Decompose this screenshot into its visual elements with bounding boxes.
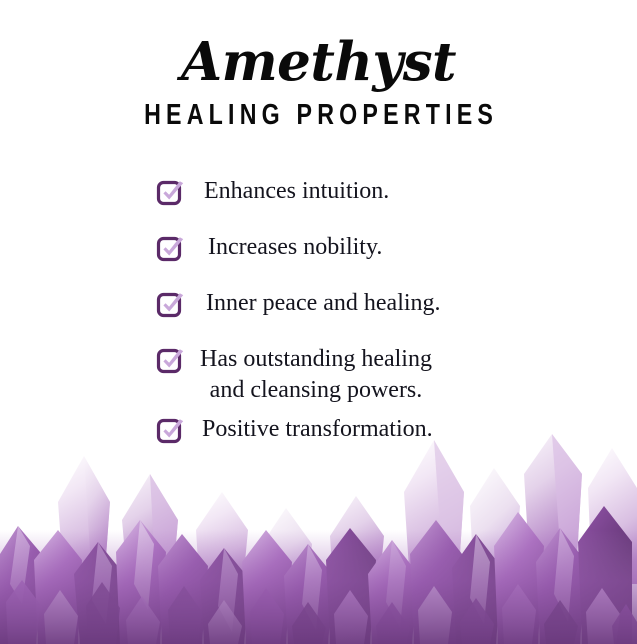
poster-header: Amethyst HEALING PROPERTIES bbox=[0, 0, 637, 131]
page-title: Amethyst bbox=[0, 0, 637, 92]
list-item-label: Enhances intuition. bbox=[204, 176, 389, 207]
list-item: Increases nobility. bbox=[156, 232, 382, 264]
checkbox-checked-icon[interactable] bbox=[156, 416, 186, 446]
list-item: Positive transformation. bbox=[156, 414, 433, 446]
checkbox-checked-icon[interactable] bbox=[156, 346, 186, 376]
amethyst-healing-properties-poster: Amethyst HEALING PROPERTIES Enhances int… bbox=[0, 0, 637, 644]
checkbox-checked-icon[interactable] bbox=[156, 290, 186, 320]
list-item-label: Increases nobility. bbox=[208, 232, 382, 263]
list-item: Has outstanding healing and cleansing po… bbox=[156, 344, 432, 406]
crystal-depth-wash bbox=[0, 530, 637, 644]
page-subtitle: HEALING PROPERTIES bbox=[64, 92, 574, 131]
list-item: Enhances intuition. bbox=[156, 176, 389, 208]
list-item: Inner peace and healing. bbox=[156, 288, 441, 320]
list-item-label: Positive transformation. bbox=[202, 414, 433, 445]
amethyst-crystal-cluster-image bbox=[0, 434, 637, 644]
checkbox-checked-icon[interactable] bbox=[156, 234, 186, 264]
list-item-label: Inner peace and healing. bbox=[206, 288, 441, 319]
list-item-label: Has outstanding healing and cleansing po… bbox=[200, 344, 432, 406]
checkbox-checked-icon[interactable] bbox=[156, 178, 186, 208]
